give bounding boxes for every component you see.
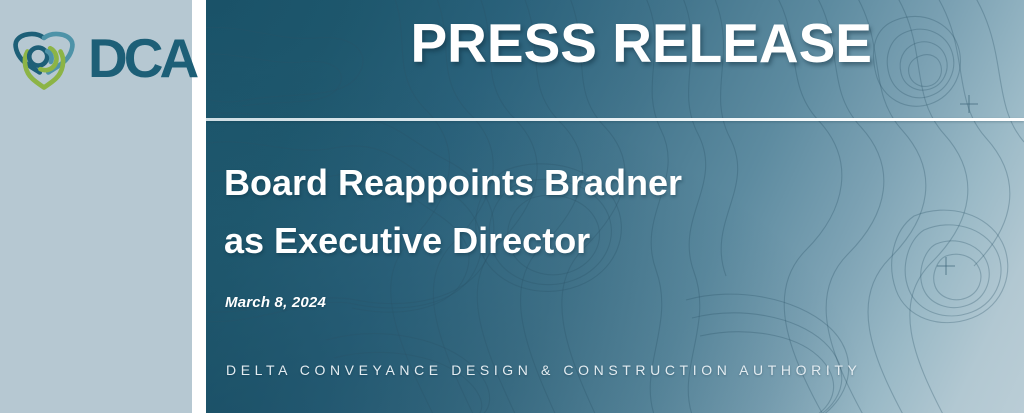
logo-panel: DCA [0, 0, 192, 413]
headline: Board Reappoints Bradner as Executive Di… [224, 154, 682, 271]
header-divider-rule [206, 118, 1024, 121]
dca-wordmark: DCA [88, 31, 195, 86]
organization-name: DELTA CONVEYANCE DESIGN & CONSTRUCTION A… [226, 362, 861, 378]
release-date: March 8, 2024 [225, 294, 326, 311]
headline-line-1: Board Reappoints Bradner [224, 154, 682, 212]
dca-trefoil-shield-logo-icon [8, 22, 80, 94]
dca-logo-lockup[interactable]: DCA [8, 22, 195, 94]
press-release-title: PRESS RELEASE [410, 16, 872, 71]
press-release-banner: DCA [0, 0, 1024, 413]
banner-content: PRESS RELEASE Board Reappoints Bradner a… [206, 0, 1024, 413]
banner-hero: PRESS RELEASE Board Reappoints Bradner a… [206, 0, 1024, 413]
headline-line-2: as Executive Director [224, 212, 682, 270]
